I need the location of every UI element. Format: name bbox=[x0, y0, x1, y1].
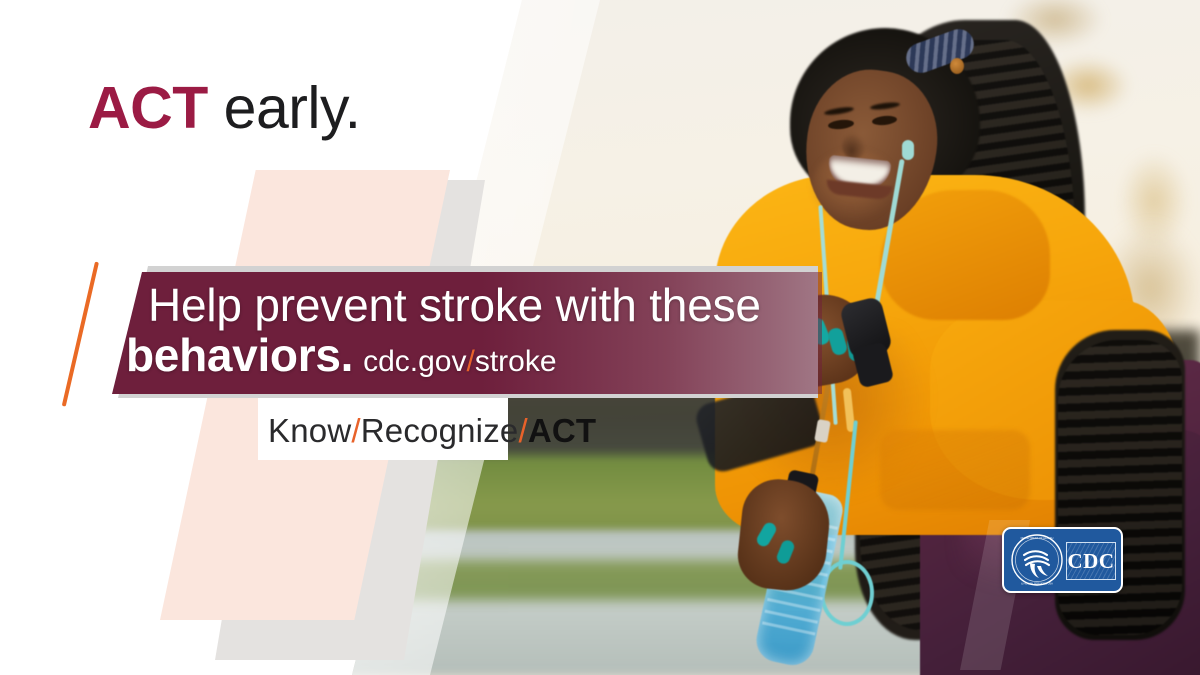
stroke-prevention-poster: ACT early. Help prevent stroke with thes… bbox=[0, 0, 1200, 675]
svg-text:DEPARTMENT OF HEALTH: DEPARTMENT OF HEALTH bbox=[1021, 536, 1054, 540]
tagline-know: Know bbox=[268, 412, 351, 449]
hoodie-pocket bbox=[880, 430, 1030, 510]
tagline-act: ACT bbox=[528, 412, 596, 449]
earbud-icon bbox=[902, 140, 914, 160]
tagline-slash-1: / bbox=[351, 412, 360, 449]
url-path: stroke bbox=[475, 345, 557, 378]
page-title: ACT early. bbox=[88, 78, 361, 140]
banner-url[interactable]: cdc.gov/stroke bbox=[363, 345, 556, 378]
banner-line-2-bold: behaviors. bbox=[126, 329, 353, 381]
nose bbox=[842, 133, 866, 159]
cdc-abbr: CDC bbox=[1068, 551, 1115, 572]
headline-accent: ACT bbox=[88, 75, 208, 141]
banner-text-block: Help prevent stroke with these behaviors… bbox=[112, 272, 872, 394]
campaign-tagline: Know/Recognize/ACT bbox=[268, 412, 596, 450]
cdc-wordmark: CDC bbox=[1066, 542, 1116, 580]
banner-line-1: Help prevent stroke with these bbox=[148, 278, 761, 332]
headline-rest: early. bbox=[208, 75, 361, 141]
hair-bead bbox=[950, 58, 964, 74]
banner-line-2: behaviors.cdc.gov/stroke bbox=[126, 328, 557, 382]
tagline-recognize: Recognize bbox=[361, 412, 519, 449]
hhs-seal-icon: DEPARTMENT OF HEALTH & HUMAN SERVICES US… bbox=[1010, 533, 1064, 587]
orange-accent-slash bbox=[62, 262, 99, 407]
url-domain: cdc.gov bbox=[363, 345, 466, 378]
url-slash: / bbox=[466, 345, 474, 378]
tagline-slash-2: / bbox=[518, 412, 527, 449]
cdc-logo[interactable]: DEPARTMENT OF HEALTH & HUMAN SERVICES US… bbox=[1002, 527, 1123, 593]
svg-text:& HUMAN SERVICES USA: & HUMAN SERVICES USA bbox=[1021, 582, 1053, 586]
